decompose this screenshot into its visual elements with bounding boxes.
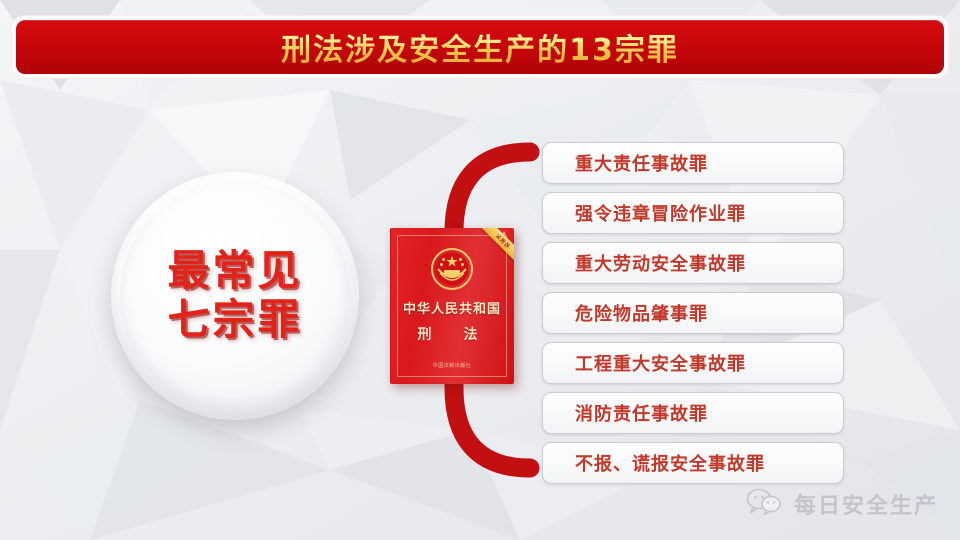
crime-item[interactable]: 强令违章冒险作业罪 [542,192,844,234]
crime-item[interactable]: 不报、谎报安全事故罪 [542,442,844,484]
watermark-text: 每日安全生产 [794,488,938,520]
badge-line-2: 七宗罪 [167,296,302,345]
slide-canvas: 刑法涉及安全生产的13宗罪 最常见 七宗罪 实用版 最新 [0,0,960,540]
crime-item[interactable]: 重大劳动安全事故罪 [542,242,844,284]
crime-label: 危险物品肇事罪 [575,300,708,326]
crime-list: 重大责任事故罪 强令违章冒险作业罪 重大劳动安全事故罪 危险物品肇事罪 工程重大… [542,142,844,484]
watermark: 每日安全生产 [745,488,938,520]
crime-label: 不报、谎报安全事故罪 [575,450,765,476]
title-bar-frame: 刑法涉及安全生产的13宗罪 [12,16,948,78]
crime-item[interactable]: 重大责任事故罪 [542,142,844,184]
crime-label: 工程重大安全事故罪 [575,350,746,376]
most-common-badge: 最常见 七宗罪 [111,172,359,420]
book-title-line-2: 刑 法 [418,324,487,344]
book-cover-inner: 中华人民共和国 刑 法 中国法制出版社 [397,235,507,377]
page-title: 刑法涉及安全生产的13宗罪 [281,25,679,69]
book-spine [390,228,391,384]
criminal-law-book: 实用版 最新 中华人民共和国 刑 法 中 [390,228,514,384]
national-emblem-icon [430,247,474,291]
wechat-icon [745,488,785,520]
badge-line-1: 最常见 [167,247,302,296]
crime-label: 重大责任事故罪 [575,150,708,176]
book-title-line-1: 中华人民共和国 [403,298,501,317]
title-bar: 刑法涉及安全生产的13宗罪 [16,20,944,74]
crime-label: 强令违章冒险作业罪 [575,200,746,226]
book-publisher: 中国法制出版社 [398,362,506,369]
crime-label: 重大劳动安全事故罪 [575,250,746,276]
crime-item[interactable]: 消防责任事故罪 [542,392,844,434]
crime-item[interactable]: 危险物品肇事罪 [542,292,844,334]
crime-label: 消防责任事故罪 [575,400,708,426]
crime-item[interactable]: 工程重大安全事故罪 [542,342,844,384]
